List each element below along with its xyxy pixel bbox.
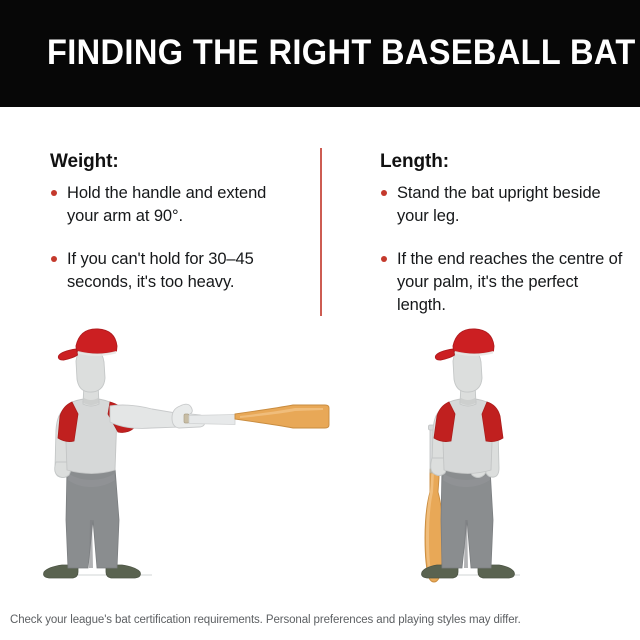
- list-item-text: If the end reaches the centre of your pa…: [397, 250, 622, 314]
- weight-column-heading: Weight:: [50, 151, 300, 173]
- tips-section: Weight: Hold the handle and extend your …: [0, 140, 640, 325]
- list-item: Stand the bat upright beside your leg.: [380, 182, 625, 228]
- list-item: Hold the handle and extend your arm at 9…: [50, 182, 300, 228]
- length-column-heading: Length:: [380, 151, 625, 173]
- infographic-page: FINDING THE RIGHT BASEBALL BAT Weight: H…: [0, 0, 640, 640]
- illustration-svg: [0, 322, 640, 600]
- list-item: If the end reaches the centre of your pa…: [380, 248, 625, 317]
- page-title: FINDING THE RIGHT BASEBALL BAT: [47, 33, 636, 73]
- arm-extended: [110, 405, 182, 428]
- header-band: FINDING THE RIGHT BASEBALL BAT: [0, 0, 640, 107]
- figure-bat-upright: [422, 329, 520, 582]
- weight-tip-list: Hold the handle and extend your arm at 9…: [50, 182, 300, 294]
- list-item-text: If you can't hold for 30–45 seconds, it'…: [67, 250, 254, 291]
- footer-disclaimer: Check your league's bat certification re…: [10, 613, 630, 628]
- bullet-dot-icon: [51, 190, 57, 196]
- cap-crown: [453, 329, 494, 354]
- length-tip-list: Stand the bat upright beside your leg. I…: [380, 182, 625, 317]
- cap-brim: [58, 349, 77, 360]
- length-column: Length: Stand the bat upright beside you…: [380, 140, 625, 317]
- jersey-sleeve-right: [482, 402, 503, 442]
- cap-brim: [435, 349, 454, 360]
- bullet-dot-icon: [381, 190, 387, 196]
- list-item: If you can't hold for 30–45 seconds, it'…: [50, 248, 300, 294]
- jersey-sleeve-left: [434, 402, 455, 442]
- bat-handle: [189, 415, 235, 425]
- bat-knob: [184, 414, 189, 423]
- weight-column: Weight: Hold the handle and extend your …: [50, 140, 300, 294]
- jersey-sleeve-left: [58, 402, 78, 442]
- bullet-dot-icon: [381, 256, 387, 262]
- list-item-text: Hold the handle and extend your arm at 9…: [67, 184, 266, 225]
- cap-crown: [76, 329, 117, 354]
- bullet-dot-icon: [51, 256, 57, 262]
- figure-holding-bat-horizontal: [44, 329, 329, 578]
- list-item-text: Stand the bat upright beside your leg.: [397, 184, 601, 225]
- illustration-area: [0, 322, 640, 600]
- column-divider: [320, 148, 322, 316]
